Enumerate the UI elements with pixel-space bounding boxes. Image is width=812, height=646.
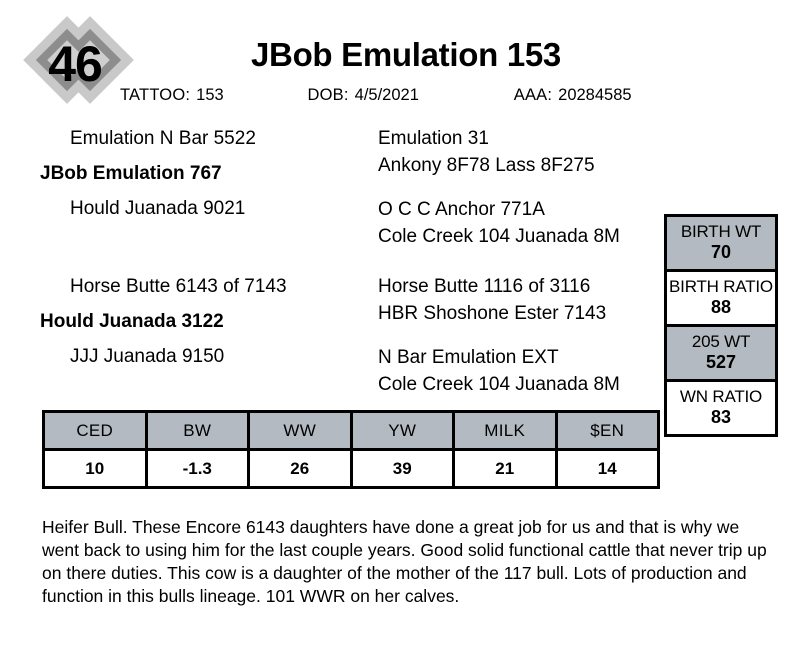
pedigree-dam-block: Horse Butte 6143 of 7143 Hould Juanada 3… [0,273,680,403]
identification-row: TATTOO:153 DOB:4/5/2021 AAA:20284585 [120,86,720,105]
pedigree-sire-column: Emulation N Bar 5522 JBob Emulation 767 … [40,125,370,222]
epd-header-milk: MILK [454,412,557,450]
sire-dam-name: Hould Juanada 9021 [40,195,370,222]
dob-label: DOB: [308,86,349,104]
epd-value-yw: 39 [351,450,454,488]
stat-birth-ratio-label: BIRTH RATIO [669,277,773,297]
tattoo-value: 153 [196,86,224,104]
stat-birth-ratio: BIRTH RATIO 88 [664,269,778,327]
aaa-label: AAA: [514,86,552,104]
epd-header-bw: BW [146,412,249,450]
epd-value-en: 14 [556,450,659,488]
dam-dam-granddam-name: Cole Creek 104 Juanada 8M [378,371,678,398]
sire-name: JBob Emulation 767 [40,160,370,187]
epd-header-row: CED BW WW YW MILK $EN [44,412,659,450]
epd-header-en: $EN [556,412,659,450]
dob-field: DOB:4/5/2021 [308,86,514,105]
epd-value-ced: 10 [44,450,147,488]
dob-value: 4/5/2021 [355,86,419,104]
pedigree-sire-grandparents: Emulation 31 Ankony 8F78 Lass 8F275 O C … [378,125,678,250]
aaa-value: 20284585 [558,86,631,104]
stat-205-wt-label: 205 WT [669,332,773,352]
tattoo-field: TATTOO:153 [120,86,308,105]
epd-header-ww: WW [249,412,352,450]
stat-birth-wt: BIRTH WT 70 [664,214,778,272]
epd-value-row: 10 -1.3 26 39 21 14 [44,450,659,488]
sire-dam-grandsire-name: O C C Anchor 771A [378,196,678,223]
lot-description: Heifer Bull. These Encore 6143 daughters… [42,516,777,608]
sire-grandsire-name: Emulation 31 [378,125,678,152]
card-header: 46 JBob Emulation 153 TATTOO:153 DOB:4/5… [0,0,812,118]
epd-header-ced: CED [44,412,147,450]
stat-wn-ratio: WN RATIO 83 [664,379,778,437]
dam-grandsire-name: Horse Butte 1116 of 3116 [378,273,678,300]
epd-header-yw: YW [351,412,454,450]
pedigree-sire-block: Emulation N Bar 5522 JBob Emulation 767 … [0,125,680,255]
stat-birth-ratio-value: 88 [669,297,773,318]
stat-birth-wt-label: BIRTH WT [669,222,773,242]
dam-dam-name: JJJ Juanada 9150 [40,343,370,370]
aaa-field: AAA:20284585 [514,86,720,105]
epd-value-ww: 26 [249,450,352,488]
sire-dam-granddam-name: Cole Creek 104 Juanada 8M [378,223,678,250]
lot-number-badge: 46 [26,26,130,102]
stat-wn-ratio-value: 83 [669,407,773,428]
epd-value-bw: -1.3 [146,450,249,488]
pedigree-dam-column: Horse Butte 6143 of 7143 Hould Juanada 3… [40,273,370,370]
stat-wn-ratio-label: WN RATIO [669,387,773,407]
dam-dam-grandsire-name: N Bar Emulation EXT [378,344,678,371]
lot-number-text: 46 [26,26,130,102]
performance-stats: BIRTH WT 70 BIRTH RATIO 88 205 WT 527 WN… [664,214,778,434]
pedigree-dam-grandparents: Horse Butte 1116 of 3116 HBR Shoshone Es… [378,273,678,398]
dam-sire-name: Horse Butte 6143 of 7143 [40,273,370,300]
epd-table: CED BW WW YW MILK $EN 10 -1.3 26 39 21 1… [42,410,660,489]
epd-value-milk: 21 [454,450,557,488]
tattoo-label: TATTOO: [120,86,190,104]
sire-sire-name: Emulation N Bar 5522 [40,125,370,152]
dam-granddam-name: HBR Shoshone Ester 7143 [378,300,678,327]
stat-205-wt: 205 WT 527 [664,324,778,382]
sire-granddam-name: Ankony 8F78 Lass 8F275 [378,152,678,179]
stat-205-wt-value: 527 [669,352,773,373]
dam-name: Hould Juanada 3122 [40,308,370,335]
stat-birth-wt-value: 70 [669,242,773,263]
